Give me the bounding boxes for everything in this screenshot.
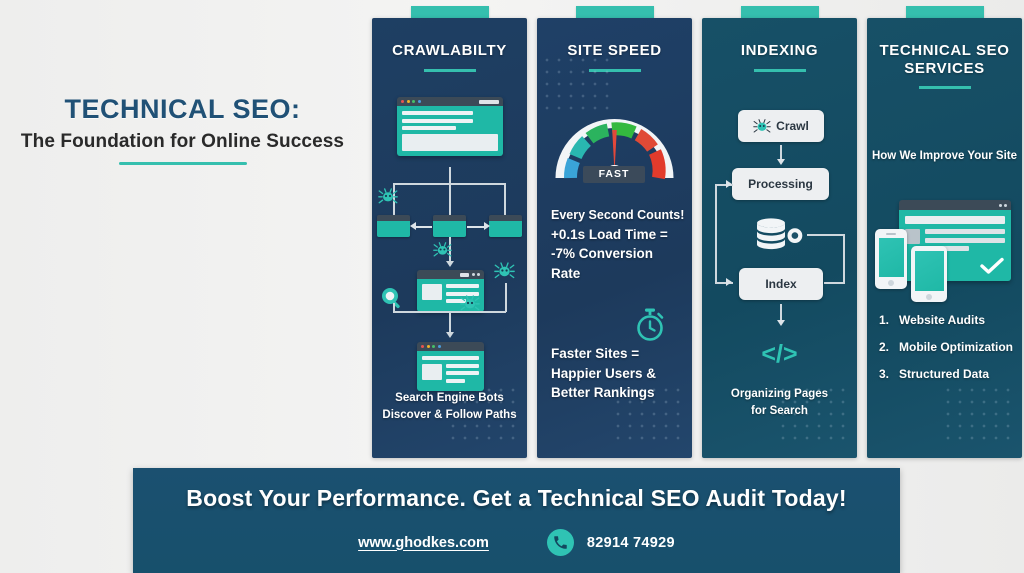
infographic-canvas: TECHNICAL SEO: The Foundation for Online… [0, 0, 1024, 573]
tablet-mockup [911, 246, 947, 302]
phone-mockup [875, 229, 907, 289]
services-list: 1. Website Audits 2. Mobile Optimization… [879, 313, 1022, 394]
browser-dot-blue [418, 100, 421, 103]
arrow-right-icon [726, 278, 732, 286]
arrow-right-icon [726, 180, 732, 188]
list-item-number: 2. [879, 340, 899, 354]
browser-window-icon [397, 97, 503, 156]
tree-connector [505, 283, 507, 312]
list-item[interactable]: 3. Structured Data [879, 367, 1022, 381]
flow-connector [807, 234, 845, 236]
browser-content [417, 351, 484, 391]
browser-window-icon [417, 342, 484, 391]
caption-line-2: Discover & Follow Paths [372, 407, 527, 424]
page-subtitle: The Foundation for Online Success [0, 131, 365, 153]
database-gear-icon [752, 216, 804, 256]
cta-phone-number: 82914 74929 [587, 535, 675, 551]
column-indexing[interactable]: INDEXING Crawl Processing [702, 18, 857, 458]
column-caption-crawlability: Search Engine Bots Discover & Follow Pat… [372, 390, 527, 423]
tree-connector [449, 183, 451, 215]
tree-connector [504, 183, 506, 215]
services-subheading: How We Improve Your Site [867, 150, 1022, 162]
list-item-label: Structured Data [899, 367, 989, 381]
flow-step-label: Crawl [776, 119, 809, 133]
page-title: TECHNICAL SEO: [0, 95, 365, 125]
browser-dot-yellow [407, 100, 410, 103]
flow-connector [715, 184, 717, 284]
browser-titlebar [397, 97, 503, 106]
list-item-label: Mobile Optimization [899, 340, 1013, 354]
column-technical-seo-services[interactable]: TECHNICAL SEO SERVICES How We Improve Yo… [867, 18, 1022, 458]
heading-line-1: TECHNICAL SEO [867, 42, 1022, 60]
page-node-center [433, 215, 466, 237]
benefit-line-1: Faster Sites = [551, 344, 685, 364]
column-divider [424, 69, 476, 72]
flow-step-index[interactable]: Index [739, 268, 823, 300]
column-heading-indexing: INDEXING [702, 18, 857, 60]
list-item-number: 3. [879, 367, 899, 381]
caption-line-1: Search Engine Bots [372, 390, 527, 407]
arrow-down-icon [446, 261, 454, 267]
cta-banner: Boost Your Performance. Get a Technical … [133, 468, 900, 573]
browser-dot-green [412, 100, 415, 103]
spider-bot-icon [378, 186, 398, 206]
speed-stat-block: Every Second Counts! +0.1s Load Time = -… [551, 206, 685, 283]
column-divider [919, 86, 971, 89]
column-heading-services: TECHNICAL SEO SERVICES [867, 18, 1022, 78]
cta-website-link[interactable]: www.ghodkes.com [358, 535, 489, 551]
list-item[interactable]: 1. Website Audits [879, 313, 1022, 327]
spider-bot-icon [494, 260, 515, 281]
flow-step-label: Index [765, 277, 796, 291]
arrow-right-icon [484, 222, 490, 230]
tree-connector [393, 303, 395, 312]
stat-line-2: +0.1s Load Time = [551, 225, 685, 245]
browser-titlebar [417, 270, 484, 279]
flow-connector [824, 282, 844, 284]
list-item-number: 1. [879, 313, 899, 327]
code-brackets-icon: </> [702, 340, 857, 369]
benefit-line-2: Happier Users & [551, 364, 685, 384]
column-heading-crawlability: CRAWLABILTY [372, 18, 527, 60]
columns-container: CRAWLABILTY [372, 0, 1024, 463]
stat-line-1: Every Second Counts! [551, 206, 685, 225]
spider-bot-icon [433, 240, 452, 259]
gauge-label: FAST [583, 166, 645, 183]
browser-urlbar [479, 100, 499, 104]
browser-content [397, 106, 503, 156]
cta-title: Boost Your Performance. Get a Technical … [133, 468, 900, 512]
column-site-speed[interactable]: SITE SPEED FAST [537, 18, 692, 458]
arrow-left-icon [410, 222, 416, 230]
spider-bot-icon [460, 293, 480, 313]
list-item[interactable]: 2. Mobile Optimization [879, 340, 1022, 354]
page-node-right [489, 215, 522, 237]
flow-step-crawl[interactable]: Crawl [738, 110, 824, 142]
responsive-devices-icon [875, 200, 1015, 292]
stat-line-3: -7% Conversion Rate [551, 244, 685, 283]
arrow-down-icon [777, 159, 785, 165]
speedometer-gauge-icon: FAST [552, 96, 677, 191]
benefit-line-3: Better Rankings [551, 383, 685, 403]
speed-benefit-block: Faster Sites = Happier Users & Better Ra… [551, 344, 685, 403]
column-caption-indexing: Organizing Pages for Search [702, 386, 857, 419]
tree-connector [449, 167, 451, 183]
flow-step-processing[interactable]: Processing [732, 168, 829, 200]
node-link [414, 226, 432, 228]
list-item-label: Website Audits [899, 313, 985, 327]
hero-divider [119, 162, 247, 165]
arrow-down-icon [446, 332, 454, 338]
column-crawlability[interactable]: CRAWLABILTY [372, 18, 527, 458]
caption-line-1: Organizing Pages [702, 386, 857, 403]
cta-contact-row: www.ghodkes.com 82914 74929 [133, 529, 900, 556]
browser-titlebar [417, 342, 484, 351]
spider-bot-icon [753, 117, 771, 135]
heading-line-2: SERVICES [867, 60, 1022, 78]
cta-phone-block[interactable]: 82914 74929 [547, 529, 675, 556]
caption-line-2: for Search [702, 403, 857, 420]
hero-block: TECHNICAL SEO: The Foundation for Online… [0, 95, 365, 165]
tree-connector [449, 311, 451, 334]
browser-dot-red [401, 100, 404, 103]
phone-icon [547, 529, 574, 556]
flow-step-label: Processing [748, 177, 813, 191]
flow-connector [843, 234, 845, 284]
checkmark-icon [979, 257, 1005, 275]
page-node-left [377, 215, 410, 237]
arrow-down-icon [777, 320, 785, 326]
node-link [467, 226, 485, 228]
column-divider [754, 69, 806, 72]
stopwatch-icon [633, 306, 667, 342]
